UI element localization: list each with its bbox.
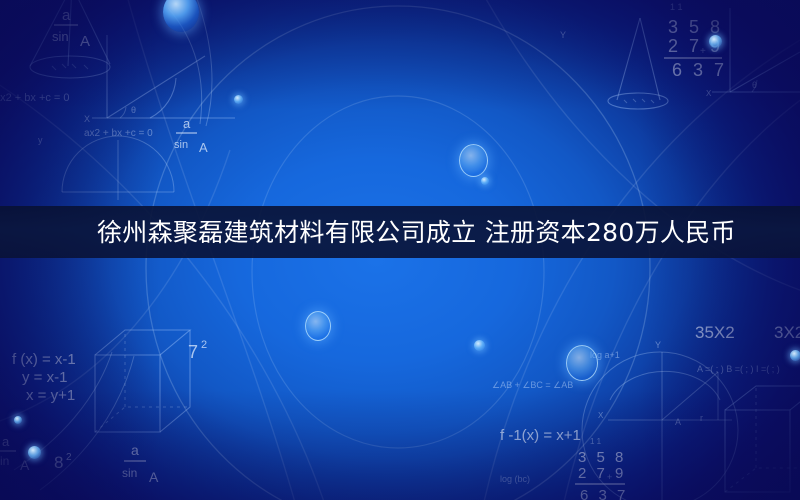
glow-orb	[28, 446, 41, 459]
headline-text: 徐州森聚磊建筑材料有限公司成立 注册资本280万人民币	[97, 220, 736, 245]
glow-orb	[459, 144, 488, 177]
glow-orb	[474, 340, 485, 351]
glow-orb	[234, 95, 243, 104]
glow-orb	[14, 416, 22, 424]
caption-banner: 徐州森聚磊建筑材料有限公司成立 注册资本280万人民币	[0, 206, 800, 258]
glow-orb	[709, 35, 722, 48]
glow-orb	[566, 345, 598, 381]
glow-orb	[305, 311, 331, 341]
promo-image-canvas: .ln { fill:none; stroke:#a8caff; stroke-…	[0, 0, 800, 500]
glow-orb	[481, 177, 489, 185]
glow-orb	[790, 350, 800, 361]
